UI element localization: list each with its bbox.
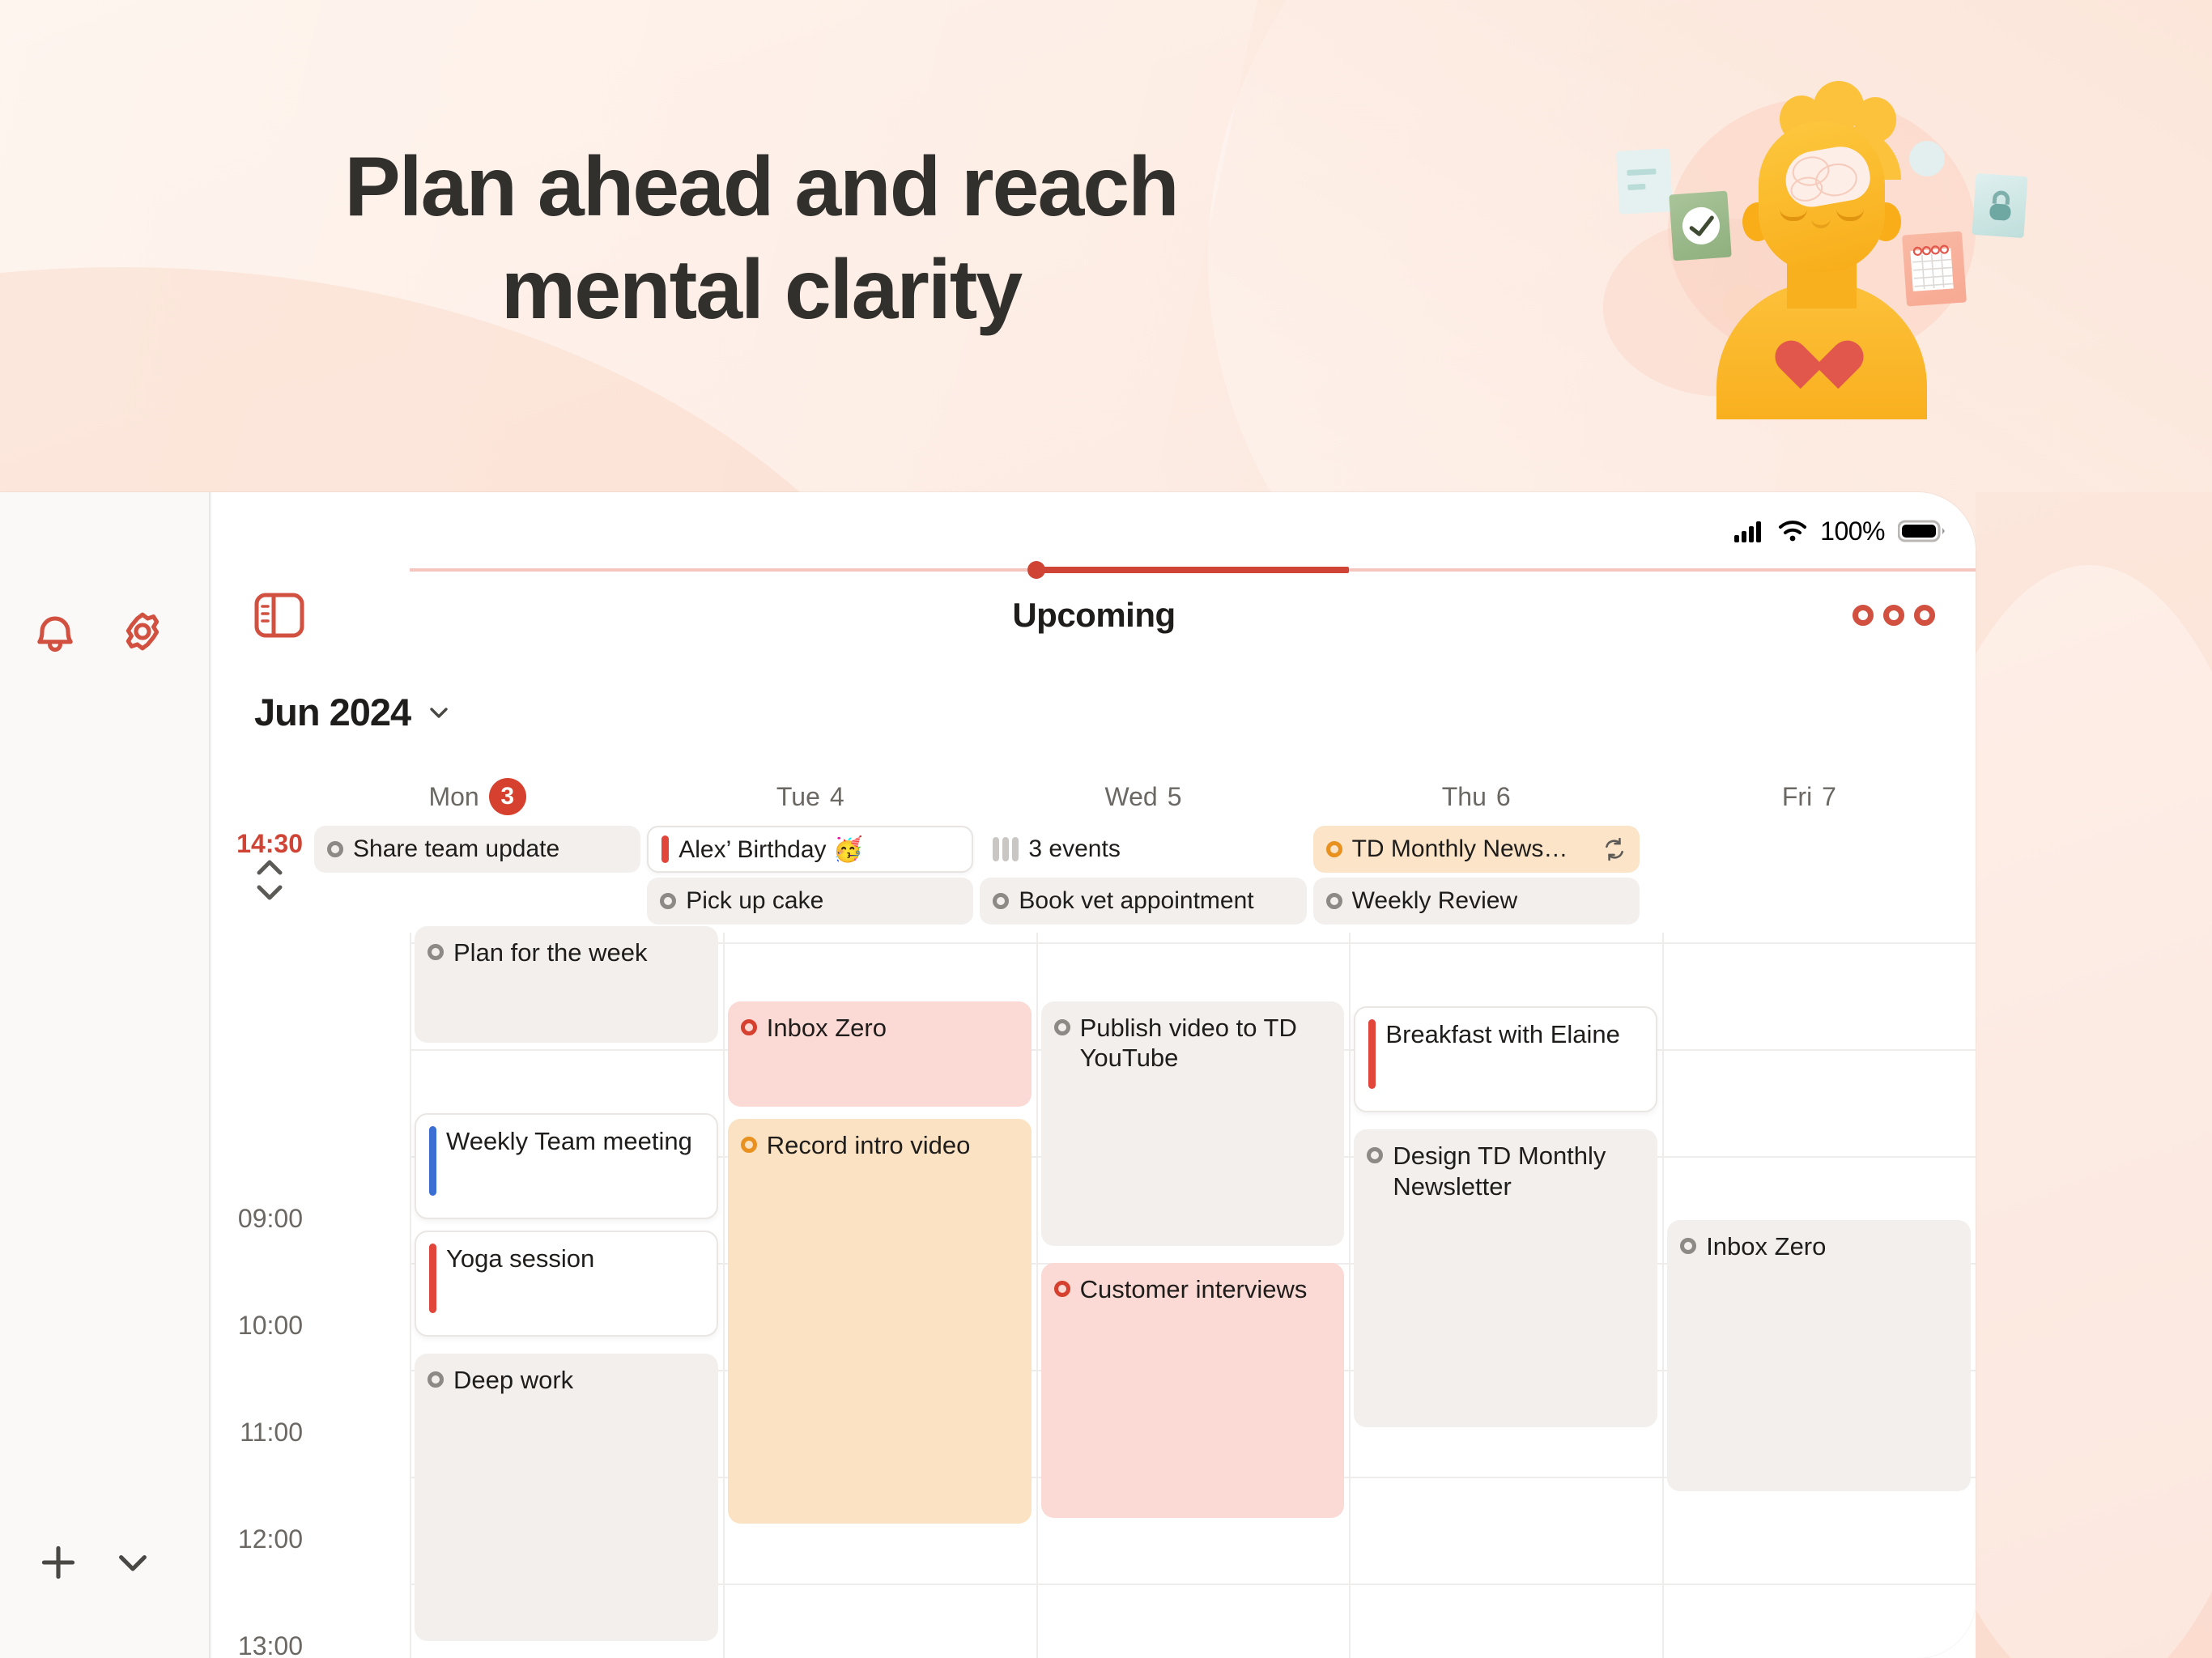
current-time-line [410, 568, 1976, 572]
calendar-event[interactable]: Customer interviews [1041, 1263, 1345, 1518]
all-day-chip-label: Alex’ Birthday 🥳 [678, 835, 863, 864]
day-header-name: Fri [1782, 782, 1812, 812]
note-card-icon [1616, 148, 1673, 214]
calendar-card-icon [1902, 232, 1967, 307]
wifi-icon [1778, 520, 1807, 542]
hour-label: 09:00 [212, 1204, 303, 1234]
day-header-name: Thu [1442, 782, 1487, 812]
page-title: Plan ahead and reach mental clarity [0, 136, 1522, 342]
recurring-icon [1602, 837, 1627, 861]
event-title: Inbox Zero [1706, 1231, 1826, 1480]
cellular-signal-icon [1734, 520, 1765, 542]
day-header-number: 6 [1496, 782, 1511, 812]
event-title: Customer interviews [1080, 1274, 1308, 1507]
event-column-tue: Inbox ZeroRecord intro video [723, 933, 1036, 1658]
all-day-chip[interactable]: Weekly Review [1313, 878, 1640, 925]
calendar-event[interactable]: Inbox Zero [1667, 1220, 1971, 1491]
day-header-name: Wed [1105, 782, 1158, 812]
gear-icon[interactable] [117, 606, 168, 657]
task-checkbox-icon[interactable] [1680, 1238, 1696, 1254]
app-sidebar [0, 492, 211, 1658]
all-day-chip[interactable]: 3 events [980, 826, 1306, 873]
all-day-chip[interactable]: Alex’ Birthday 🥳 [647, 826, 973, 873]
lock-card-icon [1972, 173, 2027, 238]
month-label: Jun 2024 [254, 690, 410, 734]
battery-full-icon [1898, 519, 1945, 543]
event-title: Plan for the week [453, 937, 648, 1031]
app-screen: 100% Upcoming [212, 492, 1976, 1658]
event-column-thu: Breakfast with ElaineDesign TD Monthly N… [1349, 933, 1662, 1658]
event-title: Publish video to TD YouTube [1080, 1013, 1332, 1235]
task-checkbox-icon[interactable] [428, 1371, 444, 1388]
headline-line-1: Plan ahead and reach [0, 136, 1522, 239]
calendar-event[interactable]: Publish video to TD YouTube [1041, 1001, 1345, 1246]
event-title: Design TD Monthly Newsletter [1393, 1141, 1644, 1416]
task-checkbox-icon[interactable] [741, 1137, 757, 1153]
all-day-chip-label: 3 events [1028, 835, 1120, 863]
task-checkbox-icon[interactable] [1054, 1019, 1070, 1035]
day-header-fri[interactable]: Fri7 [1643, 767, 1976, 826]
calendar-days-area: Mon3Tue4Wed5Thu6Fri7 Share team updateAl… [311, 767, 1976, 1658]
bell-icon[interactable] [29, 606, 81, 657]
tablet-device-frame: 100% Upcoming [0, 492, 1976, 1658]
all-day-column-tue: Alex’ Birthday 🥳Pick up cake [644, 826, 976, 933]
event-column-mon: Plan for the weekWeekly Team meetingYoga… [410, 933, 723, 1658]
all-day-column-thu: TD Monthly News…Weekly Review [1310, 826, 1643, 933]
day-header-number: 7 [1822, 782, 1836, 812]
day-header-number: 5 [1168, 782, 1182, 812]
task-checkbox-icon[interactable] [1054, 1281, 1070, 1297]
all-day-chip-label: Share team update [353, 835, 559, 863]
task-checkbox-icon[interactable] [660, 893, 676, 909]
calendar-event[interactable]: Plan for the week [415, 926, 718, 1043]
calendar-view: 09:0010:0011:0012:0013:0014:0015:0014:30… [212, 767, 1976, 1658]
current-time-active-segment [1036, 567, 1350, 573]
checkmark-card-icon [1669, 191, 1732, 261]
task-checkbox-icon[interactable] [1326, 893, 1342, 909]
collapsed-events-icon [993, 837, 1019, 861]
event-column-wed: Publish video to TD YouTubeCustomer inte… [1036, 933, 1350, 1658]
event-color-bar [429, 1243, 436, 1313]
day-header-name: Tue [776, 782, 820, 812]
day-header-number: 4 [830, 782, 844, 812]
hour-label: 13:00 [212, 1631, 303, 1658]
task-checkbox-icon[interactable] [741, 1019, 757, 1035]
page-background-right [1976, 492, 2212, 1658]
all-day-column-mon: Share team update [311, 826, 644, 933]
day-header-thu[interactable]: Thu6 [1310, 767, 1643, 826]
current-time-dot [1027, 561, 1045, 579]
task-checkbox-icon[interactable] [993, 893, 1009, 909]
app-navbar: Upcoming [212, 572, 1976, 659]
all-day-chip[interactable]: Share team update [314, 826, 640, 873]
day-header-row: Mon3Tue4Wed5Thu6Fri7 [311, 767, 1976, 826]
sidebar-top-actions [0, 606, 209, 678]
event-color-bar [429, 1126, 436, 1196]
all-day-row: Share team updateAlex’ Birthday 🥳Pick up… [311, 826, 1976, 933]
current-time-label: 14:30 [212, 829, 303, 859]
all-day-chip[interactable]: Book vet appointment [980, 878, 1306, 925]
sidebar-bottom-actions [0, 1537, 209, 1593]
illustration-dot-1 [1909, 141, 1945, 176]
event-color-bar [661, 835, 669, 863]
status-bar: 100% [1734, 513, 1945, 549]
task-checkbox-icon[interactable] [1367, 1147, 1383, 1163]
meditating-person-illustration [1587, 73, 2040, 413]
hour-label: 12:00 [212, 1524, 303, 1554]
month-selector[interactable]: Jun 2024 [254, 690, 453, 734]
task-checkbox-icon[interactable] [327, 841, 343, 857]
chevron-down-icon[interactable] [107, 1537, 159, 1588]
event-title: Deep work [453, 1365, 573, 1630]
headline-line-2: mental clarity [0, 239, 1522, 342]
more-options-icon[interactable] [1853, 605, 1935, 626]
event-title: Weekly Team meeting [446, 1126, 692, 1206]
calendar-event[interactable]: Deep work [415, 1354, 718, 1641]
day-header-mon[interactable]: Mon3 [311, 767, 644, 826]
event-color-bar [1368, 1019, 1376, 1089]
calendar-event[interactable]: Breakfast with Elaine [1354, 1006, 1657, 1112]
day-header-name: Mon [428, 782, 479, 812]
calendar-event[interactable]: Weekly Team meeting [415, 1113, 718, 1219]
hour-label: 10:00 [212, 1311, 303, 1341]
all-day-column-wed: 3 eventsBook vet appointment [976, 826, 1309, 933]
time-gutter: 09:0010:0011:0012:0013:0014:0015:0014:30 [212, 767, 311, 1658]
navbar-title: Upcoming [212, 596, 1976, 635]
calendar-event[interactable]: Design TD Monthly Newsletter [1354, 1129, 1657, 1427]
all-day-chip-label: Pick up cake [686, 887, 823, 915]
event-title: Breakfast with Elaine [1385, 1019, 1619, 1099]
hour-label: 11:00 [212, 1418, 303, 1448]
event-column-fri: Inbox Zero [1662, 933, 1976, 1658]
calendar-event[interactable]: Record intro video [728, 1119, 1032, 1524]
task-checkbox-icon[interactable] [428, 944, 444, 960]
calendar-event[interactable]: Yoga session [415, 1231, 718, 1337]
all-day-column-fri [1643, 826, 1976, 933]
all-day-chip[interactable]: Pick up cake [647, 878, 973, 925]
all-day-chip-label: Weekly Review [1352, 887, 1518, 915]
event-title: Inbox Zero [767, 1013, 887, 1096]
battery-percent-label: 100% [1820, 517, 1885, 546]
all-day-chip-label: TD Monthly News… [1352, 835, 1568, 863]
all-day-chip-label: Book vet appointment [1019, 887, 1253, 915]
calendar-event[interactable]: Inbox Zero [728, 1001, 1032, 1107]
chevron-down-icon [425, 699, 453, 726]
day-header-wed[interactable]: Wed5 [976, 767, 1309, 826]
day-header-today-badge: 3 [489, 778, 526, 815]
day-header-tue[interactable]: Tue4 [644, 767, 976, 826]
task-checkbox-icon[interactable] [1326, 841, 1342, 857]
event-title: Yoga session [446, 1243, 594, 1324]
plus-icon[interactable] [32, 1537, 84, 1588]
event-title: Record intro video [767, 1130, 971, 1512]
all-day-chip[interactable]: TD Monthly News… [1313, 826, 1640, 873]
time-grid: Plan for the weekWeekly Team meetingYoga… [311, 933, 1976, 1658]
heart-icon [1791, 321, 1848, 372]
